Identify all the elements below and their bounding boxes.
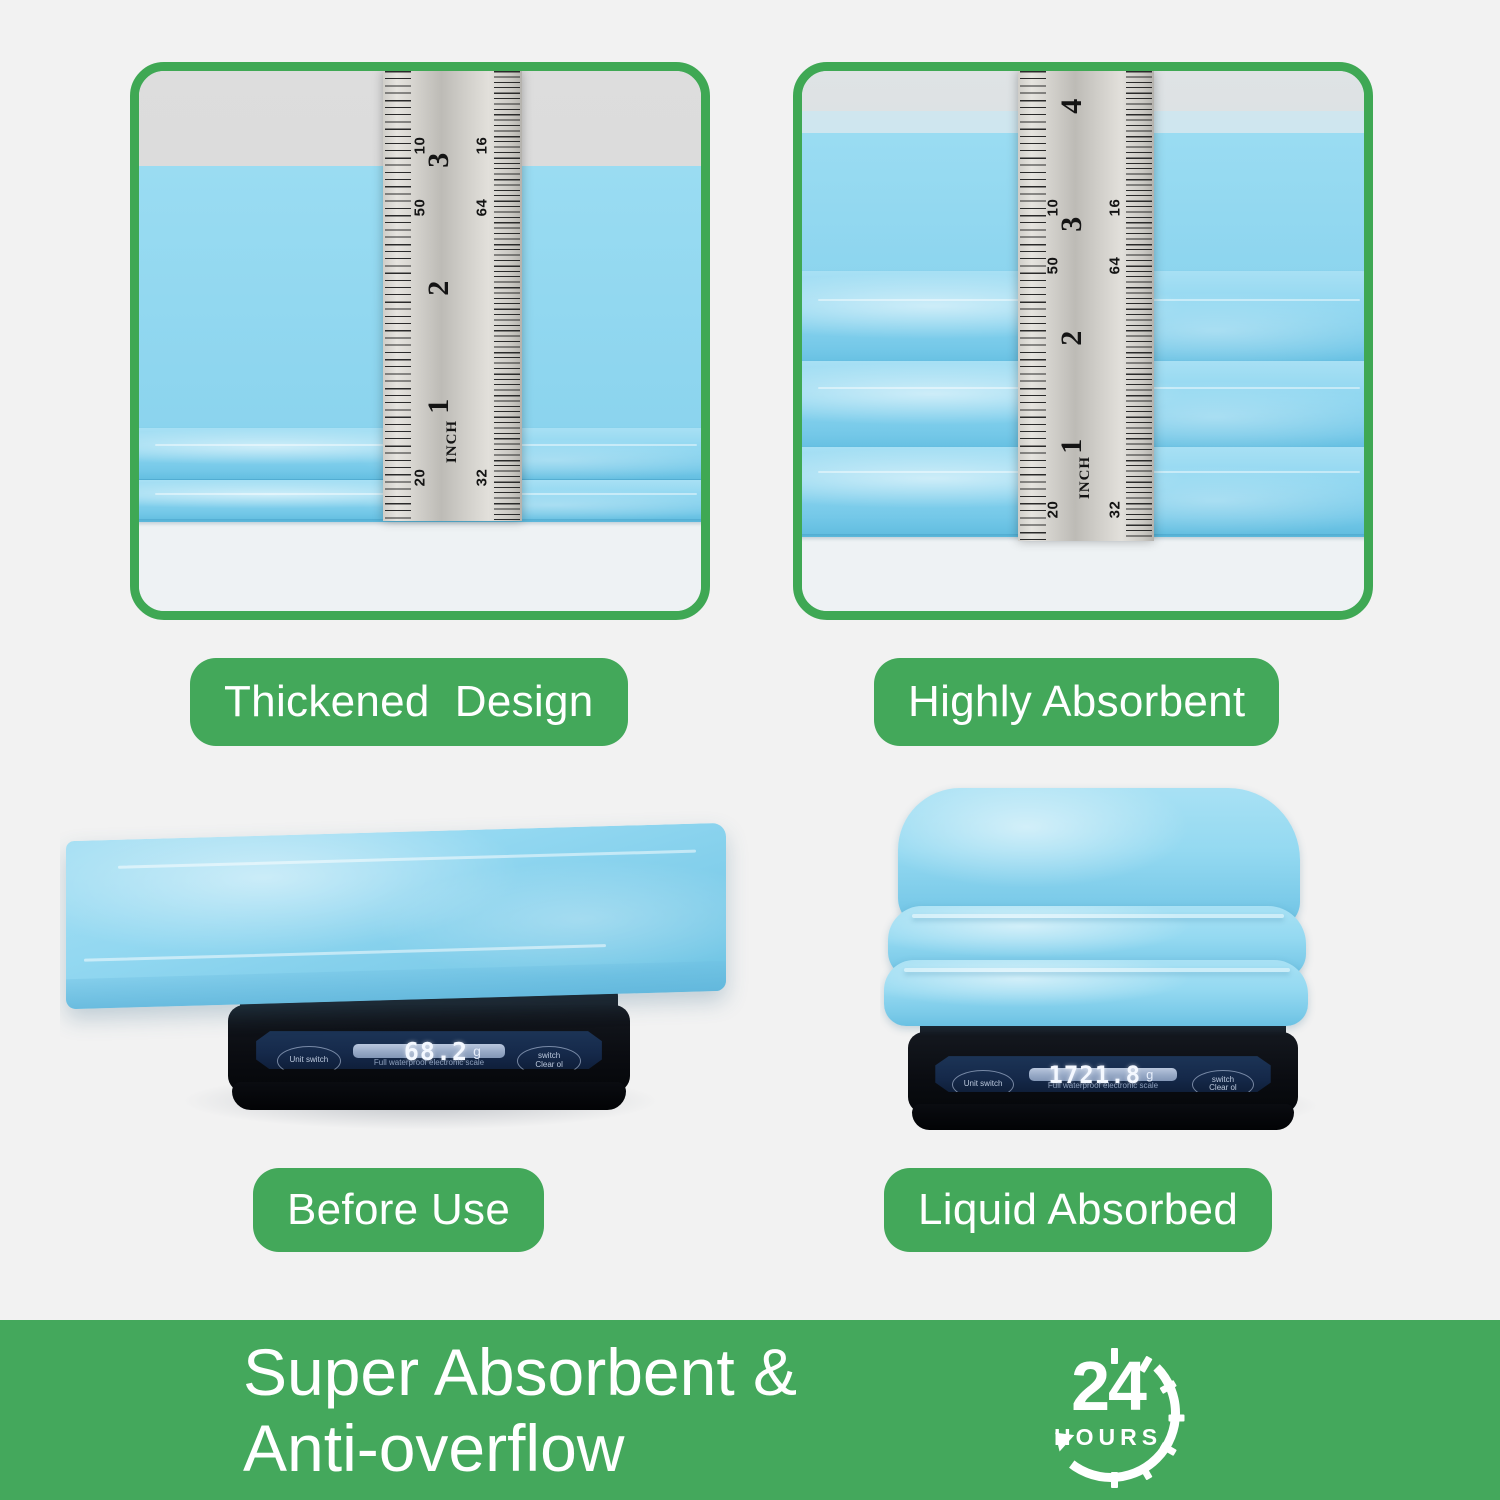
weigh-photo-before-use: 68.2 g Unit switch switch Clear ol Full … xyxy=(60,800,760,1140)
scale-control-panel: 68.2 g Unit switch switch Clear ol Full … xyxy=(256,1031,602,1069)
clock-icon: 24 HOURS xyxy=(1030,1338,1186,1490)
badge-label: HOURS xyxy=(1030,1424,1186,1451)
scale-reading-unit: g xyxy=(473,1043,481,1059)
scale-brand-text: Full waterproof electronic scale xyxy=(935,1081,1270,1090)
feature-photo-highly-absorbent: 4 3 2 1 10 50 20 16 64 32 INCH xyxy=(793,62,1373,620)
ruler-right-mark-16: 16 xyxy=(473,137,490,155)
ruler-inch-4: 4 xyxy=(1055,98,1089,114)
ruler-inch-1: 1 xyxy=(422,398,456,414)
scale-control-panel: 1721.8 g Unit switch switch Clear ol Ful… xyxy=(935,1056,1270,1092)
ruler-absorbent: 4 3 2 1 10 50 20 16 64 32 INCH xyxy=(1018,71,1154,541)
scale-lcd-display: 1721.8 g xyxy=(1029,1068,1177,1081)
scale-lcd-display: 68.2 g xyxy=(353,1044,505,1058)
ruler-left-mark-20: 20 xyxy=(1044,501,1061,519)
ruler-left-mark-50: 50 xyxy=(411,199,428,217)
ruler-right-mark-16: 16 xyxy=(1106,199,1123,217)
ruler-right-mark-64: 64 xyxy=(473,199,490,217)
ruler-inch-3: 3 xyxy=(1055,216,1089,232)
photo-canvas-thickened: 3 2 1 10 50 20 16 64 32 INCH xyxy=(139,71,701,611)
ruler-left-mark-10: 10 xyxy=(1044,199,1061,217)
photo-canvas-absorbent: 4 3 2 1 10 50 20 16 64 32 INCH xyxy=(802,71,1364,611)
scale-foot-base xyxy=(912,1104,1294,1130)
ruler-right-mark-32: 32 xyxy=(473,469,490,487)
absorbent-pad-saturated xyxy=(884,788,1314,1028)
ruler-inch-2: 2 xyxy=(422,280,456,296)
ruler-left-mark-10: 10 xyxy=(411,137,428,155)
scale-housing: 68.2 g Unit switch switch Clear ol Full … xyxy=(228,1005,630,1092)
scale-housing: 1721.8 g Unit switch switch Clear ol Ful… xyxy=(908,1032,1298,1114)
caption-highly-absorbent: Highly Absorbent xyxy=(874,658,1279,746)
ruler-inch-1: 1 xyxy=(1055,438,1089,454)
banner-headline: Super Absorbent & Anti-overflow xyxy=(243,1334,797,1486)
caption-liquid-absorbed: Liquid Absorbed xyxy=(884,1168,1272,1252)
badge-number: 24 xyxy=(1030,1350,1186,1422)
absorbent-pad-dry xyxy=(66,823,726,1009)
scale-brand-text: Full waterproof electronic scale xyxy=(256,1058,602,1067)
ruler-right-mark-64: 64 xyxy=(1106,257,1123,275)
ruler-thickened: 3 2 1 10 50 20 16 64 32 INCH xyxy=(383,71,522,521)
feature-photo-thickened-design: 3 2 1 10 50 20 16 64 32 INCH xyxy=(130,62,710,620)
bottom-banner: Super Absorbent & Anti-overflow xyxy=(0,1320,1500,1500)
caption-thickened-design: Thickened Design xyxy=(190,658,628,746)
ruler-left-mark-50: 50 xyxy=(1044,257,1061,275)
ruler-right-mark-32: 32 xyxy=(1106,501,1123,519)
caption-before-use: Before Use xyxy=(253,1168,544,1252)
ruler-unit-label: INCH xyxy=(444,420,461,463)
product-feature-graphic: 3 2 1 10 50 20 16 64 32 INCH xyxy=(0,0,1500,1500)
ruler-unit-label: INCH xyxy=(1077,456,1094,499)
scale-foot-base xyxy=(232,1082,626,1110)
weigh-photo-liquid-absorbed: 1721.8 g Unit switch switch Clear ol Ful… xyxy=(880,780,1350,1140)
digital-scale-after: 1721.8 g Unit switch switch Clear ol Ful… xyxy=(908,1010,1298,1130)
ruler-inch-2: 2 xyxy=(1055,330,1089,346)
ruler-left-mark-20: 20 xyxy=(411,469,428,487)
ruler-inch-3: 3 xyxy=(422,152,456,168)
